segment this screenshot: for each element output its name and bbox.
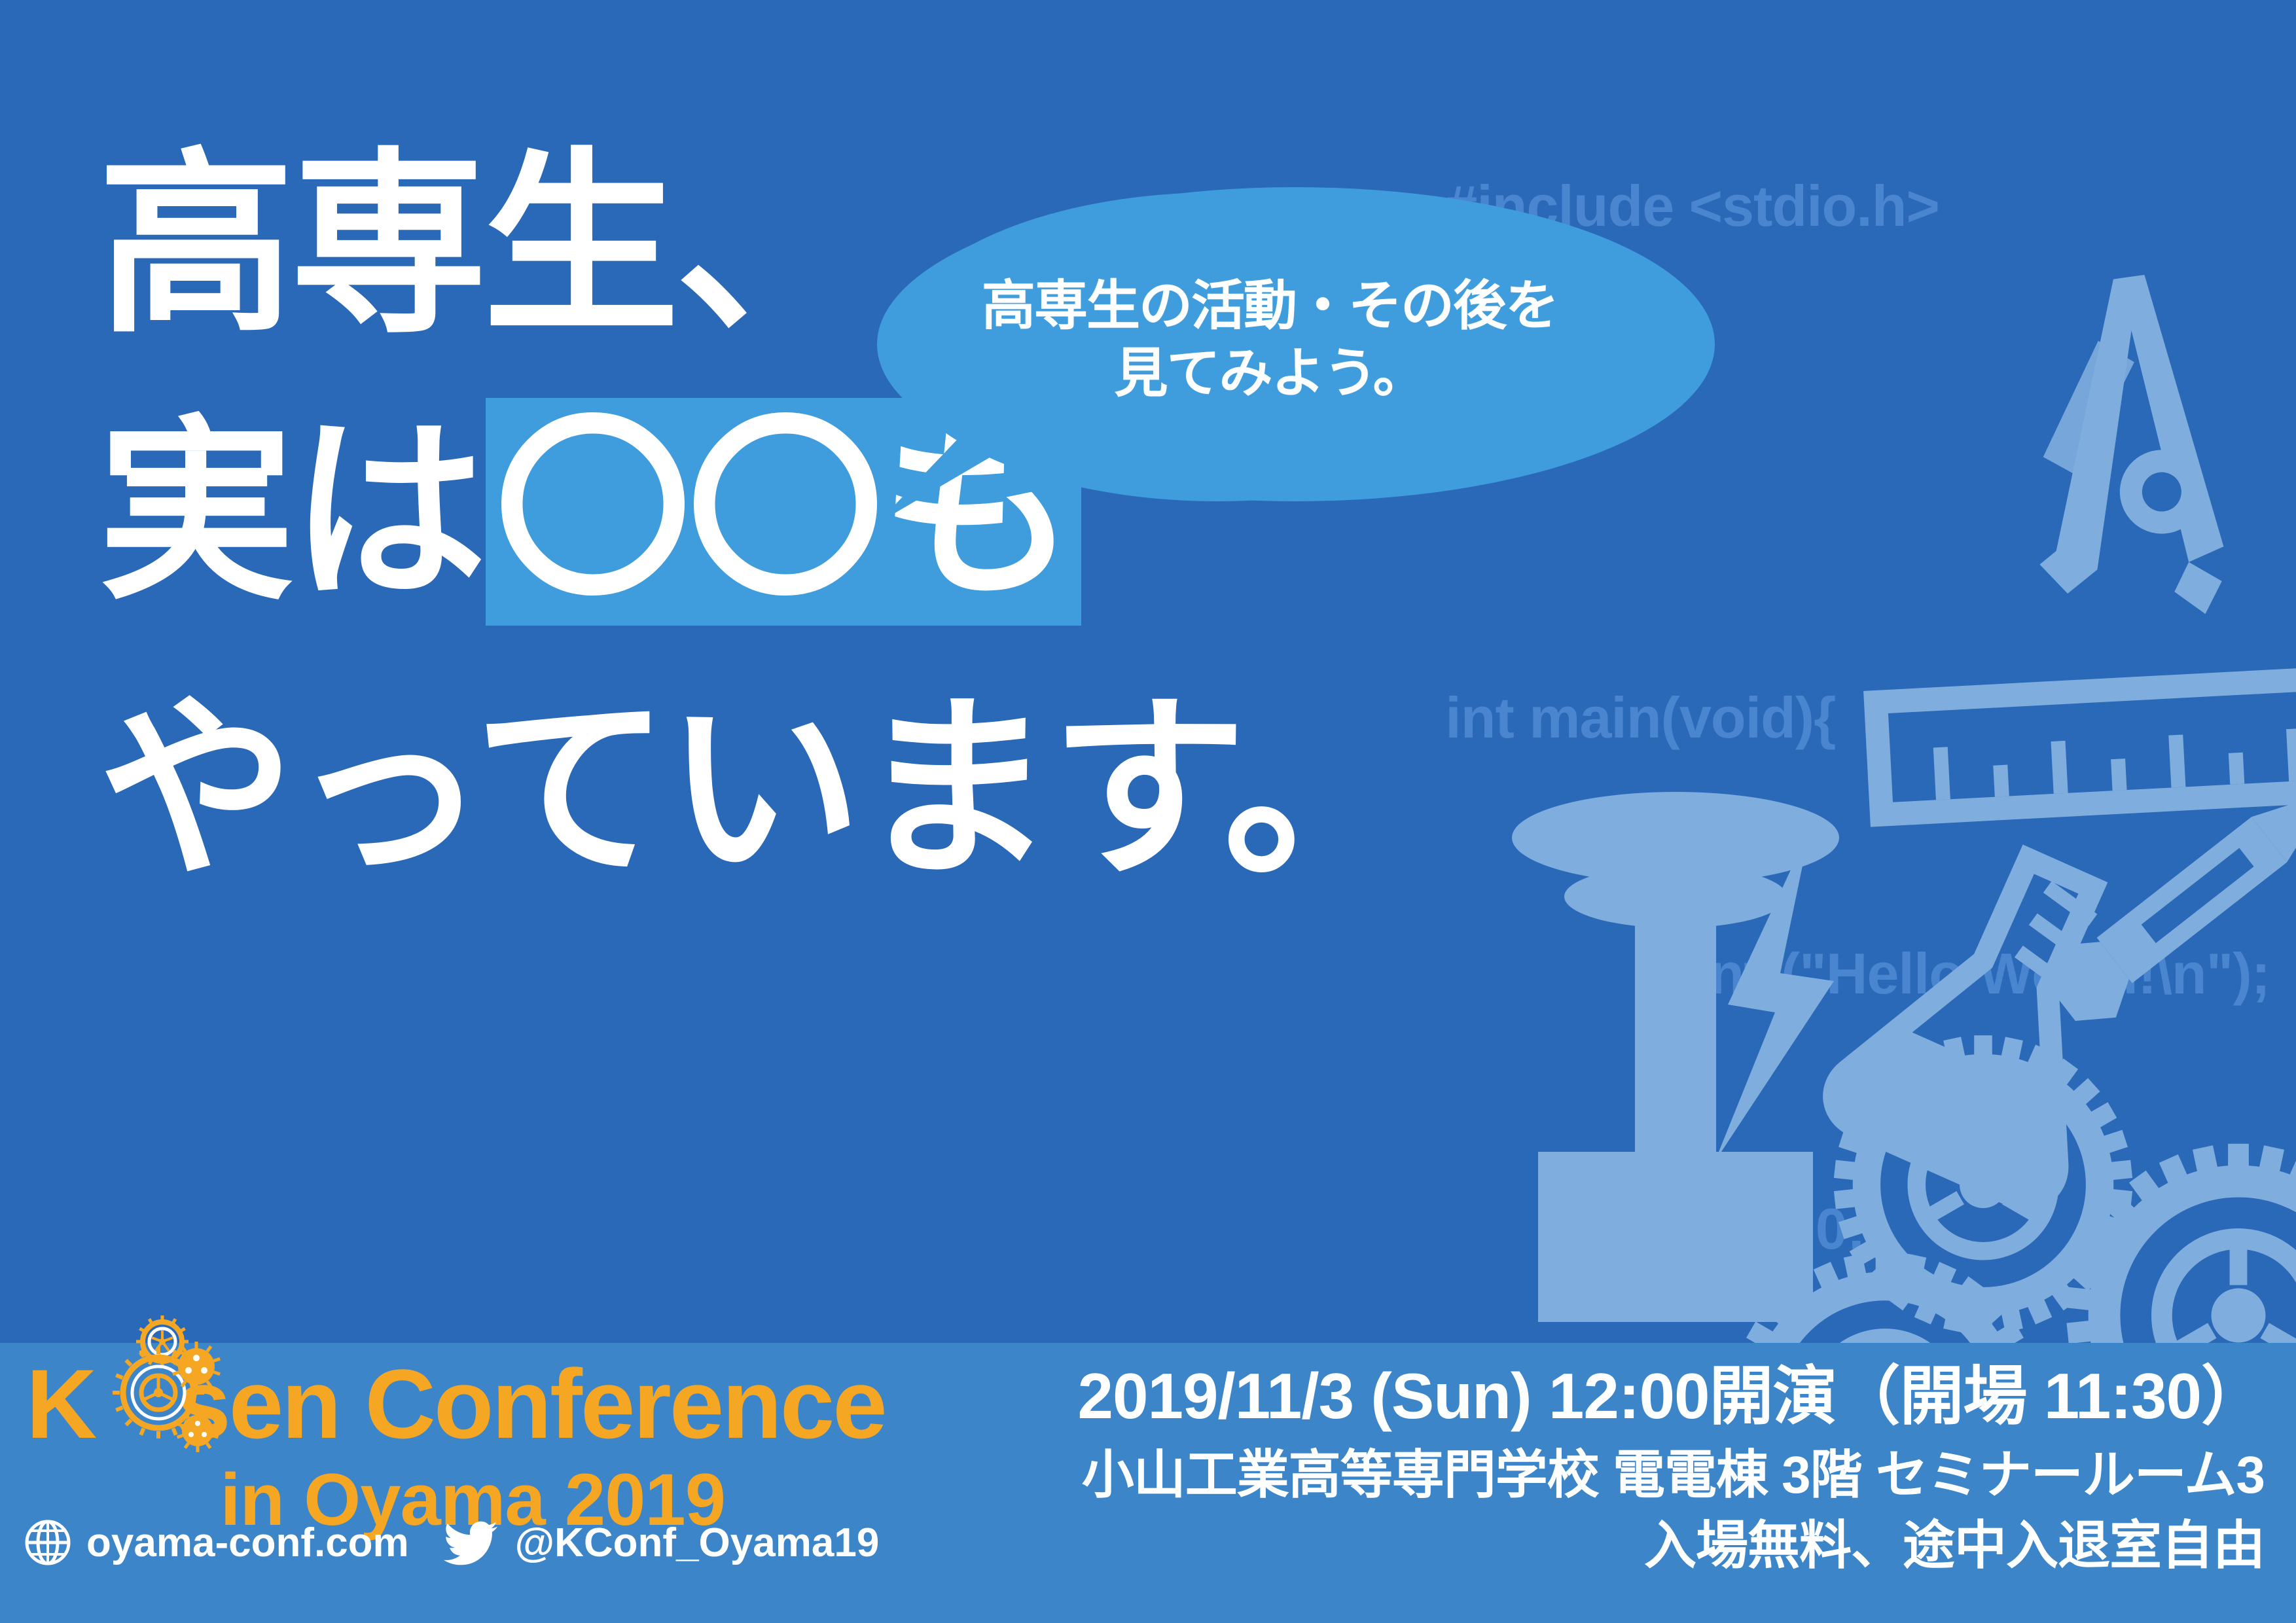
brand-title: Ksen Conference: [22, 1355, 775, 1453]
conference-poster: #include <stdio.h> int main(void){ print…: [0, 0, 2296, 1623]
website-label: oyama-conf.com: [86, 1520, 409, 1566]
speech-bubble-line-1: 高専生の活動・その後を: [890, 272, 1649, 340]
speech-bubble-text: 高専生の活動・その後を 見てみよう。: [890, 272, 1649, 408]
speech-bubble-line-2: 見てみよう。: [890, 340, 1649, 407]
website-link[interactable]: oyama-conf.com: [24, 1518, 409, 1567]
headline-line-2-prefix: 実は: [98, 414, 483, 610]
event-datetime: 2019/11/3 (Sun) 12:00開演（開場 11:30）: [1078, 1357, 2265, 1436]
brand-letter-k: K: [26, 1355, 95, 1453]
twitter-link[interactable]: @KConf_Oyama19: [443, 1518, 880, 1567]
event-admission: 入場無料、途中入退室自由: [1078, 1512, 2265, 1580]
footer-band: Ksen Conference: [0, 1343, 2296, 1623]
brand-block: Ksen Conference: [22, 1355, 775, 1537]
twitter-label: @KConf_Oyama19: [515, 1520, 880, 1566]
speech-bubble: 高専生の活動・その後を 見てみよう。: [851, 183, 1728, 537]
headline-line-3-text: やっています。: [98, 691, 1416, 887]
compass-divider-icon: [2002, 269, 2233, 635]
headline-line-3: やっています。: [98, 669, 1416, 910]
social-links: oyama-conf.com @KConf_Oyama19: [24, 1518, 879, 1567]
headline-line-1-text: 高専生、: [98, 147, 868, 343]
brand-gear-slot: [95, 1412, 176, 1412]
brand-title-rest: sen Conference: [176, 1355, 885, 1453]
event-details: 2019/11/3 (Sun) 12:00開演（開場 11:30） 小山工業高等…: [1078, 1357, 2265, 1580]
globe-icon: [24, 1518, 72, 1567]
ruler-icon: [1876, 676, 2296, 815]
event-venue: 小山工業高等専門学校 電電棟 3階 セミナールーム3: [1078, 1441, 2265, 1509]
twitter-icon: [443, 1518, 501, 1567]
